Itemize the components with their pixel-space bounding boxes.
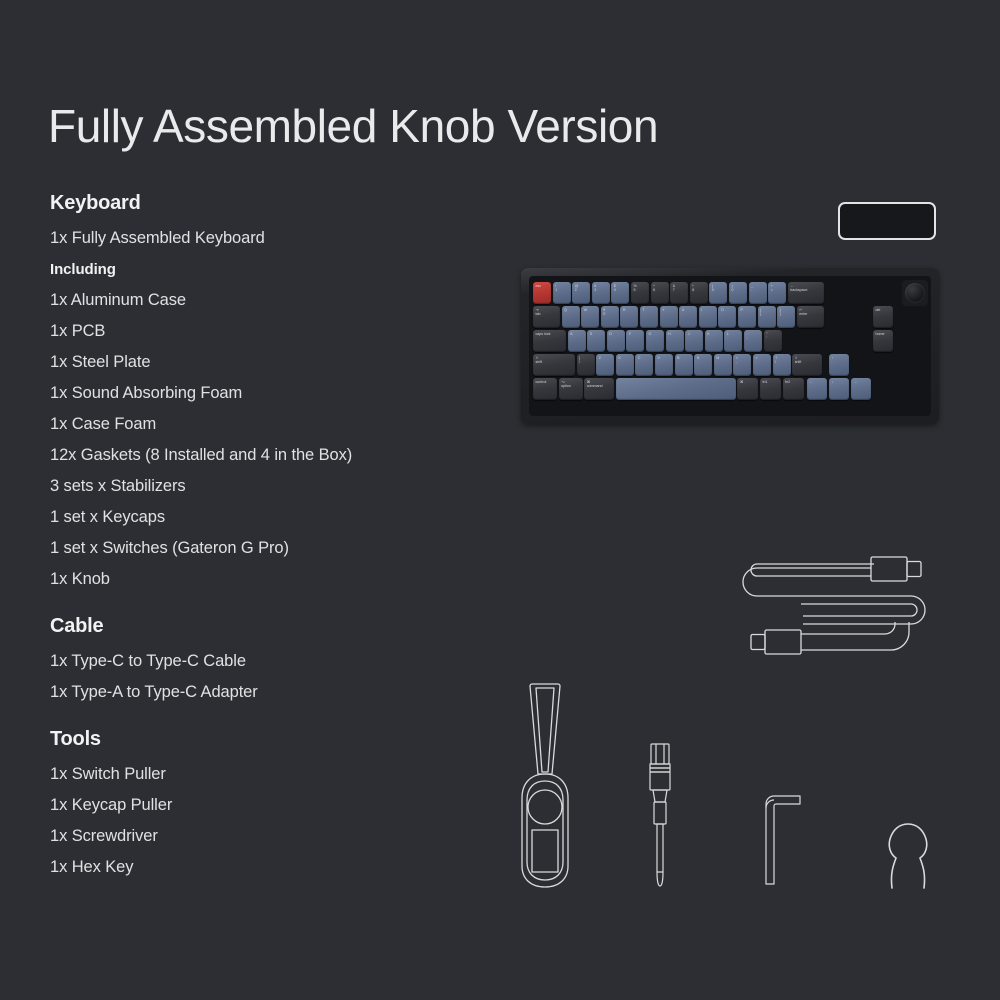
key-legend-bottom: B <box>677 356 690 360</box>
keyboard-key[interactable]: |\ <box>577 354 595 376</box>
list-item: 1x Steel Plate <box>50 347 480 378</box>
keyboard-key[interactable]: A <box>568 330 586 352</box>
keyboard-key[interactable]: I <box>699 306 717 328</box>
section-keyboard: Keyboard 1x Fully Assembled Keyboard Inc… <box>50 192 480 595</box>
keyboard-key[interactable]: #3 <box>592 282 610 304</box>
key-legend-bottom: P <box>741 308 754 312</box>
keyboard-key[interactable]: ⇧shift <box>792 354 822 376</box>
key-legend-bottom: D <box>609 332 622 336</box>
section-heading-keyboard: Keyboard <box>50 192 480 215</box>
key-legend-bottom: Z <box>599 356 612 360</box>
keyboard-key[interactable]: D <box>607 330 625 352</box>
keyboard-key[interactable]: ⇧shift <box>533 354 575 376</box>
spec-list-keyboard: 1x Fully Assembled Keyboard Including 1x… <box>50 223 480 595</box>
key-legend-bottom: 4 <box>614 288 627 292</box>
list-item: 1x Fully Assembled Keyboard <box>50 223 480 254</box>
section-cable: Cable 1x Type-C to Type-C Cable 1x Type-… <box>50 615 480 708</box>
keyboard-key[interactable]: ?/ <box>773 354 791 376</box>
list-item: 1x Screwdriver <box>50 821 480 852</box>
keyboard-key[interactable]: {[ <box>758 306 776 328</box>
key-legend-bottom: \ <box>579 360 592 364</box>
list-item: 1x Keycap Puller <box>50 790 480 821</box>
list-item: 1x Switch Puller <box>50 759 480 790</box>
key-legend-bottom: ↑ <box>832 356 847 360</box>
list-item: 1x Aluminum Case <box>50 285 480 316</box>
key-legend-bottom: N <box>697 356 710 360</box>
key-legend-bottom: ↓ <box>832 380 847 384</box>
keyboard-keys-plate: esc!1@2#3$4%5^6&7*8(9)0_-+=←backspace⇥ta… <box>533 282 867 412</box>
keyboard-key[interactable]: Q <box>562 306 580 328</box>
keyboard-key[interactable]: "' <box>764 330 782 352</box>
keyboard-key[interactable]: R <box>620 306 638 328</box>
key-legend-bottom: ] <box>780 312 793 316</box>
key-legend-bottom: shift <box>795 360 820 364</box>
key-legend-bottom: home <box>876 332 891 336</box>
section-heading-tools: Tools <box>50 728 480 751</box>
keyboard-key[interactable]: N <box>694 354 712 376</box>
keyboard-key[interactable]: $4 <box>611 282 629 304</box>
list-item: 1x Type-A to Type-C Adapter <box>50 677 480 708</box>
keyboard-key[interactable]: P <box>738 306 756 328</box>
key-legend-bottom: 6 <box>653 288 666 292</box>
keyboard-key[interactable]: K <box>705 330 723 352</box>
keyboard-key[interactable]: Z <box>596 354 614 376</box>
keyboard-key[interactable]: <, <box>733 354 751 376</box>
key-legend-bottom: enter <box>799 312 821 316</box>
key-legend-bottom: ⌘ <box>740 380 756 384</box>
key-legend-bottom: W <box>584 308 597 312</box>
keyboard-key[interactable]: fn2 <box>783 378 804 400</box>
key-legend-bottom: Y <box>662 308 675 312</box>
key-legend-bottom: [ <box>760 312 773 316</box>
list-item: 1 set x Switches (Gateron G Pro) <box>50 533 480 564</box>
key-legend-bottom: option <box>561 384 580 388</box>
key-legend-bottom: → <box>854 380 869 384</box>
key-legend-bottom: O <box>721 308 734 312</box>
keyboard-key[interactable]: S <box>587 330 605 352</box>
keyboard-key[interactable]: O <box>718 306 736 328</box>
key-legend-bottom: caps lock <box>536 332 564 336</box>
keyboard-key[interactable]: }] <box>777 306 795 328</box>
keyboard-key[interactable]: %5 <box>631 282 649 304</box>
keyboard-key-nav[interactable]: home <box>873 330 893 352</box>
keyboard-key[interactable]: Y <box>660 306 678 328</box>
key-legend-bottom: - <box>751 288 764 292</box>
list-item: 3 sets x Stabilizers <box>50 471 480 502</box>
list-item: 1x Knob <box>50 564 480 595</box>
key-legend-bottom: backspace <box>790 288 821 292</box>
key-legend-bottom: M <box>716 356 729 360</box>
usb-cable-illustration <box>735 543 950 668</box>
keyboard-key-nav[interactable]: del <box>873 306 893 328</box>
switch-puller-illustration <box>510 678 580 893</box>
key-legend-bottom: X <box>618 356 631 360</box>
keyboard-key[interactable]: >. <box>753 354 771 376</box>
list-item: 1x Hex Key <box>50 852 480 883</box>
keyboard-key[interactable]: V <box>655 354 673 376</box>
key-legend-bottom: 1 <box>555 288 568 292</box>
key-legend-bottom: del <box>876 308 891 312</box>
keyboard-key[interactable]: esc <box>533 282 551 304</box>
key-legend-bottom: 7 <box>673 288 686 292</box>
key-legend-bottom: F <box>629 332 642 336</box>
list-item: 1x PCB <box>50 316 480 347</box>
knob-icon[interactable] <box>902 280 928 306</box>
keyboard-key[interactable]: control <box>533 378 557 400</box>
keyboard-key[interactable]: &7 <box>670 282 688 304</box>
key-legend-bottom: E <box>603 312 616 316</box>
key-legend-bottom: shift <box>536 360 573 364</box>
key-legend-bottom: ' <box>766 336 779 340</box>
keyboard-key-nav[interactable]: ← <box>807 378 827 400</box>
keyboard-key[interactable]: U <box>679 306 697 328</box>
keyboard-key[interactable]: ⌘ <box>737 378 758 400</box>
key-legend-bottom: 3 <box>594 288 607 292</box>
keyboard-key[interactable]: H <box>666 330 684 352</box>
type-a-to-type-c-adapter-illustration <box>838 202 936 240</box>
key-legend-bottom: 8 <box>692 288 705 292</box>
key-legend-bottom: I <box>701 308 714 312</box>
key-legend-bottom: fn1 <box>763 380 779 384</box>
keyboard-key[interactable]: ^6 <box>651 282 669 304</box>
key-legend-bottom: R <box>623 308 636 312</box>
keyboard-key-nav[interactable]: → <box>851 378 871 400</box>
key-legend-bottom: L <box>727 332 740 336</box>
keyboard-key[interactable]: €E <box>601 306 619 328</box>
keyboard-key[interactable]: B <box>675 354 693 376</box>
key-legend-bottom: V <box>658 356 671 360</box>
key-legend-bottom: 2 <box>575 288 588 292</box>
key-legend-bottom: ; <box>747 336 760 340</box>
keyboard-key-nav[interactable]: ↑ <box>829 354 849 376</box>
keyboard-key[interactable]: !1 <box>553 282 571 304</box>
keyboard-key[interactable] <box>616 378 736 400</box>
key-legend-bottom: K <box>707 332 720 336</box>
key-legend-bottom: / <box>775 360 788 364</box>
key-legend-bottom: control <box>536 380 555 384</box>
keyboard-key[interactable]: ⌥option <box>559 378 583 400</box>
keyboard-key[interactable]: X <box>616 354 634 376</box>
spec-list-cable: 1x Type-C to Type-C Cable 1x Type-A to T… <box>50 646 480 708</box>
section-tools: Tools 1x Switch Puller 1x Keycap Puller … <box>50 728 480 883</box>
keyboard-key[interactable]: @2 <box>572 282 590 304</box>
key-legend-bottom: 5 <box>634 288 647 292</box>
key-legend-bottom: G <box>649 332 662 336</box>
keyboard-key[interactable]: caps lock <box>533 330 566 352</box>
keyboard-key[interactable]: (9 <box>709 282 727 304</box>
key-legend-bottom: C <box>638 356 651 360</box>
key-legend-bottom: esc <box>536 284 549 288</box>
keycap-puller-illustration <box>880 820 936 890</box>
keyboard-key[interactable]: J <box>685 330 703 352</box>
key-legend-bottom: 9 <box>712 288 725 292</box>
key-legend-bottom: command <box>587 384 612 388</box>
key-legend-bottom: J <box>688 332 701 336</box>
spec-list-tools: 1x Switch Puller 1x Keycap Puller 1x Scr… <box>50 759 480 883</box>
keyboard-key[interactable]: += <box>768 282 786 304</box>
spec-column: Keyboard 1x Fully Assembled Keyboard Inc… <box>50 192 480 883</box>
keyboard-key[interactable]: L <box>724 330 742 352</box>
list-item: 1x Sound Absorbing Foam <box>50 378 480 409</box>
key-legend-bottom: H <box>668 332 681 336</box>
keyboard-key[interactable]: fn1 <box>760 378 781 400</box>
keyboard-key[interactable]: G <box>646 330 664 352</box>
hex-key-illustration <box>760 788 808 886</box>
keyboard-key[interactable]: C <box>635 354 653 376</box>
section-heading-cable: Cable <box>50 615 480 638</box>
key-legend-bottom: = <box>771 288 784 292</box>
keyboard-key[interactable]: T <box>640 306 658 328</box>
keyboard-illustration: esc!1@2#3$4%5^6&7*8(9)0_-+=←backspace⇥ta… <box>521 268 939 424</box>
keyboard-key-nav[interactable]: ↓ <box>829 378 849 400</box>
key-legend-bottom: A <box>570 332 583 336</box>
keyboard-key[interactable]: ←backspace <box>788 282 824 304</box>
list-item: 12x Gaskets (8 Installed and 4 in the Bo… <box>50 440 480 471</box>
key-legend-bottom: Q <box>564 308 577 312</box>
keyboard-key[interactable]: :; <box>744 330 762 352</box>
keyboard-key[interactable]: *8 <box>690 282 708 304</box>
key-legend-bottom: S <box>590 332 603 336</box>
key-legend-bottom: fn2 <box>785 380 801 384</box>
illustration-area: esc!1@2#3$4%5^6&7*8(9)0_-+=←backspace⇥ta… <box>490 0 1000 1000</box>
key-legend-bottom: tab <box>536 312 558 316</box>
list-item: 1x Type-C to Type-C Cable <box>50 646 480 677</box>
keyboard-key[interactable]: W <box>581 306 599 328</box>
key-legend-bottom: T <box>643 308 656 312</box>
key-legend-bottom: U <box>682 308 695 312</box>
keyboard-key[interactable]: F <box>626 330 644 352</box>
keyboard-key[interactable]: ⌘command <box>584 378 614 400</box>
key-legend-bottom: . <box>756 360 769 364</box>
key-legend-bottom: , <box>736 360 749 364</box>
key-legend-bottom: ← <box>810 380 825 384</box>
key-legend-bottom: 0 <box>732 288 745 292</box>
keyboard-key[interactable]: M <box>714 354 732 376</box>
keyboard-key[interactable]: _- <box>749 282 767 304</box>
keyboard-key[interactable]: ↵enter <box>797 306 824 328</box>
screwdriver-illustration <box>640 740 680 892</box>
list-item: 1x Case Foam <box>50 409 480 440</box>
keyboard-key[interactable]: ⇥tab <box>533 306 560 328</box>
list-item-including: Including <box>50 254 480 285</box>
keyboard-key[interactable]: )0 <box>729 282 747 304</box>
list-item: 1 set x Keycaps <box>50 502 480 533</box>
